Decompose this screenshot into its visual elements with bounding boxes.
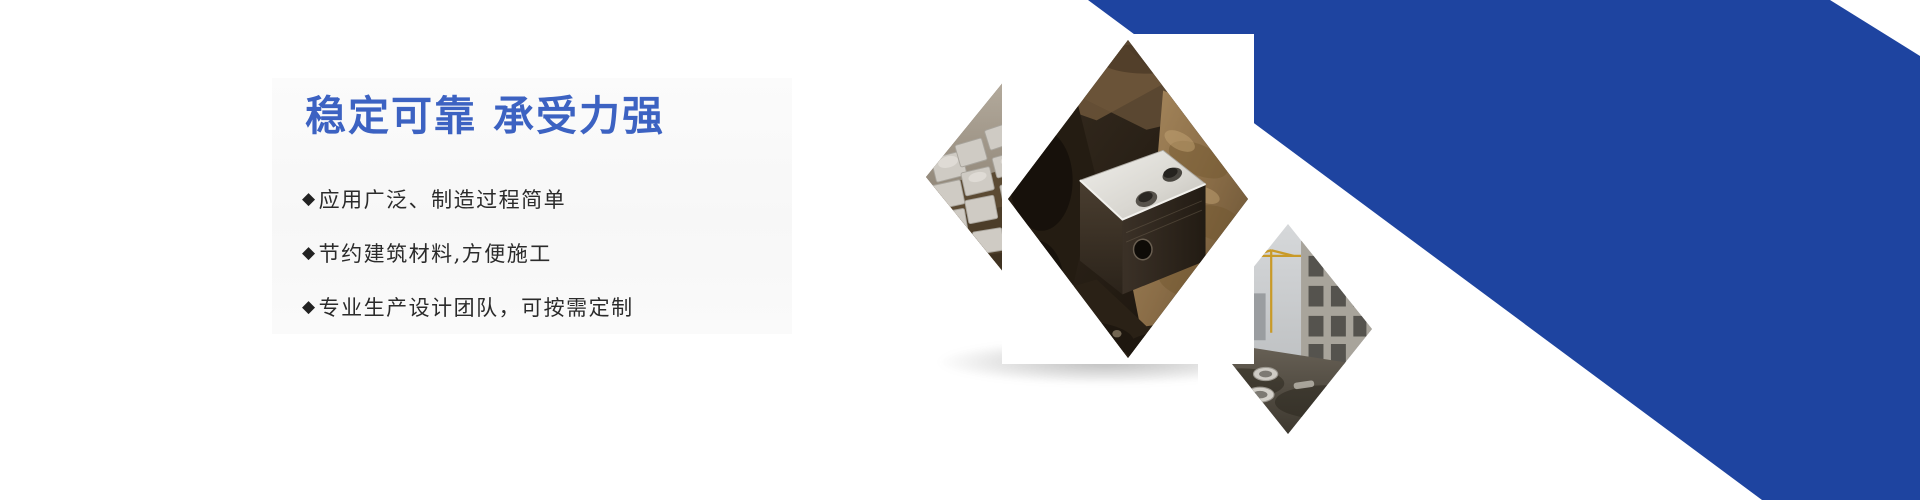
diamond-bullet-icon: ◆ <box>302 191 317 208</box>
promotional-banner: 稳定可靠承受力强 ◆ 应用广泛、制造过程简单 ◆ 节约建筑材料,方便施工 ◆ 专… <box>0 0 1920 500</box>
list-item-label: 应用广泛、制造过程简单 <box>319 184 567 214</box>
list-item: ◆ 专业生产设计团队，可按需定制 <box>302 280 782 334</box>
diamond-bullet-icon: ◆ <box>302 245 317 262</box>
photo-diamond-septic-tank <box>1002 34 1254 364</box>
page-title: 稳定可靠承受力强 <box>305 96 665 137</box>
headline-part-1: 稳定可靠 <box>305 92 477 140</box>
concrete-septic-tank-in-trench-image <box>1008 40 1248 358</box>
headline-part-2: 承受力强 <box>493 92 665 140</box>
list-item-label: 节约建筑材料,方便施工 <box>319 238 552 268</box>
diamond-bullet-icon: ◆ <box>302 299 317 316</box>
list-item-label: 专业生产设计团队，可按需定制 <box>319 292 634 322</box>
feature-list: ◆ 应用广泛、制造过程简单 ◆ 节约建筑材料,方便施工 ◆ 专业生产设计团队，可… <box>302 172 782 334</box>
list-item: ◆ 应用广泛、制造过程简单 <box>302 172 782 226</box>
list-item: ◆ 节约建筑材料,方便施工 <box>302 226 782 280</box>
